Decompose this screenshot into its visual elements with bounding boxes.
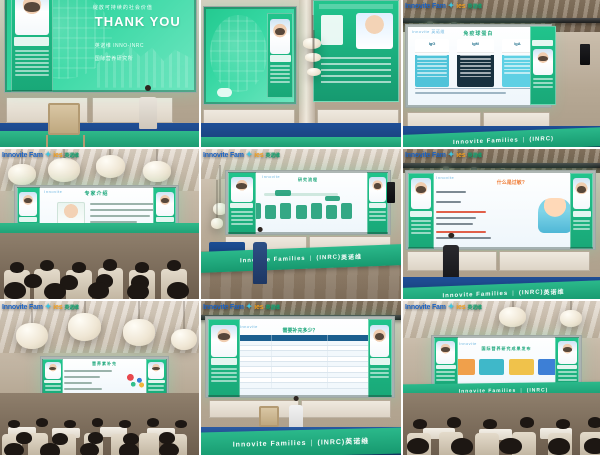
watermark-innovite: Innovite Fam (405, 152, 446, 159)
dosage-table (217, 335, 382, 388)
speaker-name-plate (148, 380, 165, 383)
speaker-name-plate (532, 40, 553, 46)
speaker-name-plate (14, 37, 49, 46)
slide-org-name: 英诺维 INNO-INRC (95, 43, 144, 51)
speaker-name-plate (436, 365, 456, 369)
lantern-light (499, 307, 525, 327)
watermark-logo: Innovite Fam ✦ ies 英诺维 (203, 151, 280, 159)
speaker-name-plate (44, 380, 61, 383)
lantern-light (211, 218, 223, 229)
lantern-light (8, 164, 36, 185)
presenter-head (145, 85, 151, 91)
presenter-figure (289, 396, 303, 430)
slide-flow-area (239, 190, 377, 225)
slide-title: 什么是过敏? (497, 179, 525, 186)
slide-brand-corner: Innovite (240, 324, 258, 329)
photo-collage-grid: 点亮营养 绽放可持续的社会价值 THANK YOU 英诺维 INNO-INRC … (0, 0, 600, 451)
collage-tile-3[interactable]: Innovite 英诺维 免疫球蛋白 IgG IgM IgA (403, 0, 600, 147)
card-body (502, 55, 534, 87)
audience-area (0, 393, 199, 455)
slide-thank-you-headline: THANK YOU (95, 14, 181, 29)
led-screen: Innovite 什么是过敏? (405, 170, 596, 250)
speaker-card (11, 0, 53, 92)
lantern-light (560, 310, 582, 327)
watermark-innovite: Innovite Fam (2, 304, 43, 311)
led-screen: 研究流程 Innovite (225, 170, 391, 235)
globe-graphic (210, 15, 267, 93)
speaker-portrait (369, 177, 386, 202)
speaker-name-plate (230, 203, 253, 208)
slide-title: 营养素补充 (92, 361, 117, 367)
stage-chair (259, 406, 279, 428)
watermark-logo: Innovite Fam ✦ ies 英诺维 (2, 151, 79, 159)
speaker-name-plate (410, 211, 432, 217)
card-body (415, 55, 450, 87)
presenter-figure (443, 233, 459, 281)
speaker-card-right (367, 172, 389, 234)
speaker-poster (313, 0, 399, 102)
watermark-cn: 英诺维 (467, 152, 481, 159)
watermark-logo: Innovite Fam ✦ ies 英诺维 (2, 303, 79, 311)
watermark-cn: 英诺维 (467, 3, 481, 10)
banner-text-mark: (INRC) (316, 254, 341, 261)
speaker-name-plate (573, 211, 591, 217)
speaker-name-plate (270, 55, 291, 62)
banner-text-mark: (INRC) (529, 135, 554, 142)
watermark-suffix: ies (456, 3, 465, 10)
slide-title: 研究流程 (298, 177, 318, 183)
speaker-name-plate (369, 203, 386, 208)
banner-text-cn: 英诺维 (345, 437, 369, 448)
lantern-light (48, 158, 80, 182)
speaker-portrait (411, 178, 432, 209)
slide-title: 免疫球蛋白 (463, 30, 493, 37)
watermark-cn: 英诺维 (467, 304, 481, 311)
watermark-innovite: Innovite Fam (203, 304, 244, 311)
speaker-monitor (387, 182, 395, 203)
collage-tile-1[interactable]: 点亮营养 绽放可持续的社会价值 THANK YOU 英诺维 INNO-INRC … (0, 0, 199, 147)
presenter-head (448, 233, 453, 238)
watermark-suffix: ies (53, 152, 62, 159)
pillar-box-2 (479, 359, 504, 375)
speaker-card (267, 13, 293, 98)
watermark-logo: Innovite Fam ✦ ies 英诺维 (405, 303, 482, 311)
card-label: IgG (415, 39, 450, 52)
slide-four-boxes (450, 359, 563, 375)
star-icon: ✦ (448, 151, 455, 159)
wall-panel (209, 400, 299, 419)
speaker-bio-lines (370, 368, 389, 393)
presenter-body (253, 242, 267, 284)
card-body (457, 55, 495, 87)
watermark-innovite: Innovite Fam (405, 304, 446, 311)
slide-illustration-child (538, 198, 572, 234)
speaker-bio-lines (211, 368, 236, 393)
speaker-portrait (436, 341, 455, 363)
speaker-portrait (15, 0, 49, 35)
slide-card-igm: IgM (457, 39, 495, 87)
star-icon: ✦ (246, 151, 253, 159)
lantern-light (171, 329, 197, 351)
collage-tile-9[interactable]: Innovite 国际营养研究成果发布 Innovite Families (403, 301, 600, 455)
slide-cn-subheadline: 绽放可持续的社会价值 (93, 5, 153, 13)
watermark-cn: 英诺维 (64, 304, 78, 311)
slide-title: 专家介绍 (84, 190, 108, 197)
stage-green-edge (201, 137, 401, 147)
watermark-cn: 英诺维 (265, 304, 279, 311)
speaker-portrait (45, 362, 61, 379)
speaker-portrait (573, 178, 590, 209)
banner-text-en: Innovite Families (240, 255, 306, 264)
watermark-suffix: ies (456, 152, 465, 159)
table-row (217, 383, 382, 388)
slide-brand-corner: Innovite (459, 341, 477, 346)
speaker-card (530, 26, 556, 104)
banner-text-en: Innovite Families (453, 137, 519, 146)
star-icon: ✦ (45, 151, 52, 159)
slide-card-iga: IgA (502, 39, 534, 87)
speaker-monitor (580, 44, 590, 65)
watermark-innovite: Innovite Fam (405, 3, 446, 10)
star-icon: ✦ (448, 2, 455, 10)
speaker-bio-lines (411, 220, 432, 245)
speaker-bio-lines (270, 65, 290, 93)
speaker-name-plate (211, 358, 237, 364)
watermark-cn: 英诺维 (64, 152, 78, 159)
watermark-suffix: ies (254, 304, 263, 311)
speaker-portrait (270, 19, 290, 54)
slide-title: 需要补充多少？ (282, 327, 317, 334)
banner-separator: | (512, 290, 515, 296)
presenter-head (294, 396, 299, 401)
banner-separator: | (310, 255, 313, 261)
poster-bullets (321, 57, 392, 87)
banner-text-en: Innovite Families (442, 291, 508, 299)
lantern-light (123, 319, 155, 345)
slide-org-subtitle: 国际营养研究所 (95, 56, 134, 64)
speaker-portrait (19, 192, 37, 216)
speaker-name-plate (19, 217, 38, 222)
banner-text-mark: (INRC) (317, 439, 345, 447)
speaker-bio-lines (15, 50, 49, 85)
slide-brand-corner: Innovite (262, 174, 280, 179)
slide-body-lines (64, 370, 112, 394)
poster-name-plate (321, 15, 343, 45)
collage-tile-7[interactable]: 营养素补充 (0, 301, 199, 455)
star-icon: ✦ (45, 303, 52, 311)
presenter-body (139, 97, 157, 130)
speaker-portrait (370, 325, 389, 357)
watermark-innovite: Innovite Fam (203, 152, 244, 159)
watermark-suffix: ies (53, 304, 62, 311)
speaker-portrait (558, 341, 577, 363)
speaker-card-left (208, 319, 240, 398)
slide-cn-headline: 点亮营养 (100, 0, 124, 1)
watermark-suffix: ies (456, 304, 465, 311)
led-screen: 点亮营养 绽放可持续的社会价值 THANK YOU 英诺维 INNO-INRC … (4, 0, 197, 93)
speaker-name-plate (156, 217, 175, 222)
pillar-box-3 (509, 359, 534, 375)
banner-separator: | (523, 137, 526, 143)
banner-text-mark: (INRC) (519, 289, 544, 296)
stage-green-edge (0, 131, 199, 147)
speaker-name-plate (557, 365, 577, 369)
speaker-bio-lines (573, 220, 590, 245)
poster-portrait (356, 13, 393, 49)
speaker-bio-lines (231, 211, 253, 231)
lantern-light (68, 313, 102, 341)
audience-area (0, 233, 199, 299)
slide-footnotes (415, 88, 542, 97)
watermark-logo: Innovite Fam ✦ ies 英诺维 (405, 151, 482, 159)
collage-tile-8[interactable]: Innovite 需要补充多少？ (201, 301, 401, 455)
speaker-portrait (156, 192, 174, 216)
led-screen: Innovite 需要补充多少？ (205, 316, 395, 398)
slide-brand-corner: Innovite (436, 175, 454, 180)
star-icon: ✦ (246, 303, 253, 311)
presenter-head (258, 227, 263, 232)
lantern-light (16, 323, 48, 349)
speaker-bio-lines (533, 78, 553, 100)
banner-separator: | (311, 440, 314, 447)
wall-panel (92, 97, 174, 123)
slide-brand-corner: Innovite 英诺维 (412, 29, 445, 35)
collage-tile-4[interactable]: 专家介绍 Innovite (0, 149, 199, 299)
watermark-logo: Innovite Fam ✦ ies 英诺维 (405, 2, 482, 10)
speaker-portrait (231, 177, 253, 202)
slide-title: 国际营养研究成果发布 (481, 346, 531, 352)
star-icon: ✦ (448, 303, 455, 311)
lantern-light (143, 161, 171, 182)
presenter-figure (253, 227, 267, 284)
watermark-suffix: ies (254, 152, 263, 159)
speaker-bio-lines (369, 211, 386, 231)
collage-tile-6[interactable]: Innovite 什么是过敏? (403, 149, 600, 299)
watermark-innovite: Innovite Fam (2, 152, 43, 159)
speaker-portrait (148, 362, 164, 379)
banner-text-cn: 英诺维 (341, 252, 362, 262)
watermark-cn: 英诺维 (265, 152, 279, 159)
audience-area (403, 393, 600, 455)
banner-text-cn: 英诺维 (544, 287, 565, 297)
card-label: IgA (502, 39, 534, 52)
watermark-logo: Innovite Fam ✦ ies 英诺维 (203, 303, 280, 311)
led-screen-left (203, 6, 297, 105)
speaker-card-right (570, 173, 593, 250)
speaker-card-right (368, 319, 393, 398)
slide-brand-corner: Innovite (44, 189, 62, 194)
card-label: IgM (457, 39, 495, 52)
slide-card-igg: IgG (415, 39, 450, 87)
lighting-truss (403, 163, 600, 168)
wall-panel (499, 251, 589, 271)
poster-header (319, 4, 393, 9)
speaker-portrait (533, 49, 553, 75)
speaker-name-plate (370, 358, 390, 364)
collage-tile-2[interactable] (201, 0, 401, 147)
speaker-card-left (408, 173, 435, 250)
stage-chair (48, 103, 80, 135)
banner-text-en: Innovite Families (233, 440, 307, 449)
collage-tile-5[interactable]: 研究流程 Innovite (201, 149, 401, 299)
presenter-figure (139, 85, 157, 129)
slide-badge (217, 88, 232, 97)
speaker-portrait (211, 325, 236, 357)
lantern-light (96, 155, 126, 178)
wall-panel (301, 400, 391, 419)
speaker-card-left (228, 172, 256, 234)
